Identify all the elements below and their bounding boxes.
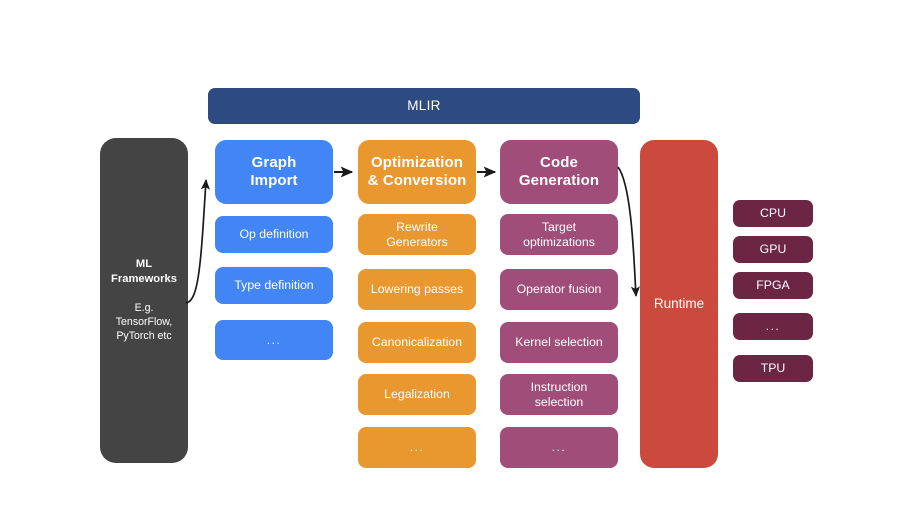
- hardware-target-fpga[interactable]: FPGA: [733, 272, 813, 299]
- item-code-generation-more[interactable]: ...: [500, 427, 618, 468]
- item-type-definition-label: Type definition: [234, 278, 313, 293]
- item-code-generation-more-label: ...: [552, 440, 567, 455]
- hardware-target-cpu[interactable]: CPU: [733, 200, 813, 227]
- item-graph-import-more-label: ...: [267, 333, 282, 348]
- item-optimization-more-label: ...: [410, 440, 425, 455]
- stage-optimization-conversion-line1: Optimization: [364, 154, 470, 172]
- hardware-target-gpu[interactable]: GPU: [733, 236, 813, 263]
- item-target-optimizations-line1: Target: [506, 220, 612, 235]
- item-legalization[interactable]: Legalization: [358, 374, 476, 415]
- mlir-banner: MLIR: [208, 88, 640, 124]
- item-op-definition-label: Op definition: [239, 227, 308, 242]
- item-rewrite-generators-line2: Generators: [364, 235, 470, 250]
- item-lowering-passes-label: Lowering passes: [371, 282, 463, 297]
- stage-code-generation-line1: Code: [506, 154, 612, 172]
- ml-frameworks-note-line2: TensorFlow,: [106, 316, 182, 330]
- item-instruction-selection[interactable]: Instruction selection: [500, 374, 618, 415]
- ml-frameworks-box: ML Frameworks E.g. TensorFlow, PyTorch e…: [100, 138, 188, 463]
- ml-frameworks-title-line1: ML: [106, 257, 182, 272]
- item-kernel-selection[interactable]: Kernel selection: [500, 322, 618, 363]
- ml-frameworks-title-line2: Frameworks: [106, 272, 182, 287]
- diagram-canvas: MLIR ML Frameworks E.g. TensorFlow, PyTo…: [0, 0, 900, 505]
- hardware-target-fpga-label: FPGA: [756, 278, 789, 293]
- stage-graph-import[interactable]: Graph Import: [215, 140, 333, 204]
- stage-optimization-conversion[interactable]: Optimization & Conversion: [358, 140, 476, 204]
- item-lowering-passes[interactable]: Lowering passes: [358, 269, 476, 310]
- item-canonicalization-label: Canonicalization: [372, 335, 462, 350]
- stage-graph-import-line1: Graph: [221, 154, 327, 172]
- item-type-definition[interactable]: Type definition: [215, 267, 333, 304]
- item-instruction-selection-line1: Instruction: [506, 380, 612, 395]
- hardware-target-tpu[interactable]: TPU: [733, 355, 813, 382]
- mlir-banner-label: MLIR: [407, 98, 440, 114]
- hardware-target-cpu-label: CPU: [760, 206, 786, 221]
- item-target-optimizations[interactable]: Target optimizations: [500, 214, 618, 255]
- item-graph-import-more[interactable]: ...: [215, 320, 333, 360]
- stage-code-generation[interactable]: Code Generation: [500, 140, 618, 204]
- ml-frameworks-note-line1: E.g.: [106, 302, 182, 316]
- stage-graph-import-line2: Import: [221, 172, 327, 190]
- item-optimization-more[interactable]: ...: [358, 427, 476, 468]
- item-op-definition[interactable]: Op definition: [215, 216, 333, 253]
- item-rewrite-generators-line1: Rewrite: [364, 220, 470, 235]
- item-operator-fusion[interactable]: Operator fusion: [500, 269, 618, 310]
- arrow-code-generation-to-runtime: [618, 167, 636, 296]
- hardware-target-more[interactable]: ...: [733, 313, 813, 340]
- arrow-frameworks-to-graph-import: [186, 180, 206, 303]
- item-instruction-selection-line2: selection: [506, 395, 612, 410]
- hardware-target-more-label: ...: [766, 319, 781, 334]
- item-operator-fusion-label: Operator fusion: [517, 282, 602, 297]
- hardware-target-gpu-label: GPU: [760, 242, 787, 257]
- runtime-label: Runtime: [654, 296, 704, 312]
- stage-optimization-conversion-line2: & Conversion: [364, 172, 470, 190]
- item-rewrite-generators[interactable]: Rewrite Generators: [358, 214, 476, 255]
- stage-code-generation-line2: Generation: [506, 172, 612, 190]
- item-canonicalization[interactable]: Canonicalization: [358, 322, 476, 363]
- runtime-box: Runtime: [640, 140, 718, 468]
- hardware-target-tpu-label: TPU: [761, 361, 786, 376]
- item-target-optimizations-line2: optimizations: [506, 235, 612, 250]
- item-legalization-label: Legalization: [384, 387, 450, 402]
- item-kernel-selection-label: Kernel selection: [515, 335, 603, 350]
- ml-frameworks-note-line3: PyTorch etc: [106, 330, 182, 344]
